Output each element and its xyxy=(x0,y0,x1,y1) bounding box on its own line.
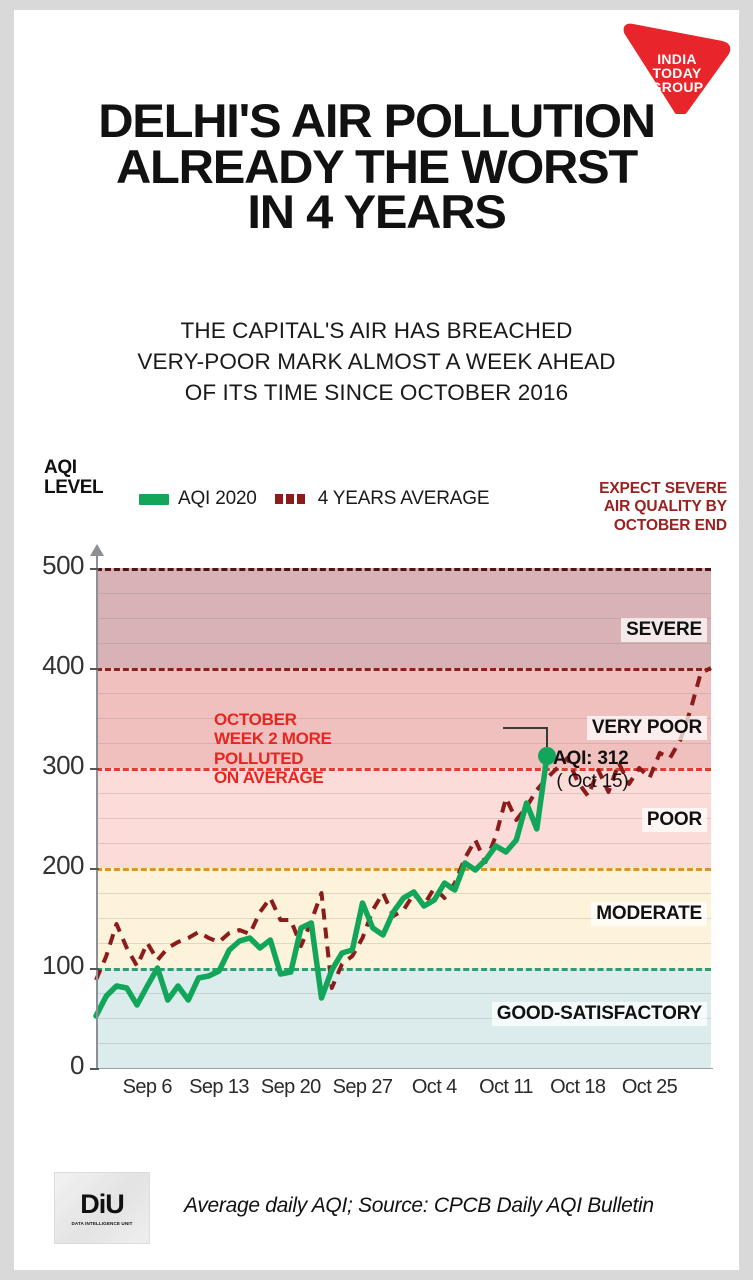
infographic-poster: INDIA TODAY GROUP DELHI'S AIR POLLUTION … xyxy=(14,10,739,1270)
callout-date: ( Oct 15) xyxy=(553,771,629,793)
oct-note-line-2: WEEK 2 MORE xyxy=(214,729,332,748)
source-note: Average daily AQI; Source: CPCB Daily AQ… xyxy=(184,1194,654,1218)
y-tick-500 xyxy=(90,568,99,570)
x-tick-label-sep-20: Sep 20 xyxy=(261,1076,321,1099)
subtitle-line-1: THE CAPITAL'S AIR HAS BREACHED xyxy=(14,315,739,346)
y-tick-label-0: 0 xyxy=(22,1050,84,1081)
chart-legend: AQI 2020 4 YEARS AVERAGE xyxy=(139,488,489,510)
series-line-aqi-2020 xyxy=(96,756,547,1016)
october-week2-note: OCTOBER WEEK 2 MORE POLLUTED ON AVERAGE xyxy=(214,710,332,788)
page-title: DELHI'S AIR POLLUTION ALREADY THE WORST … xyxy=(14,98,739,235)
oct-note-line-3: POLLUTED xyxy=(214,749,332,768)
y-tick-100 xyxy=(90,968,99,970)
x-tick-label-oct-18: Oct 18 xyxy=(550,1076,605,1099)
band-label-severe: SEVERE xyxy=(621,618,707,642)
headline-line-2: ALREADY THE WORST xyxy=(14,144,739,190)
y-axis-title: AQI LEVEL xyxy=(44,458,103,498)
legend-item-aqi-2020: AQI 2020 xyxy=(139,488,257,510)
series-layer xyxy=(96,568,711,1068)
x-tick-label-sep-13: Sep 13 xyxy=(189,1076,249,1099)
diu-logo-subtitle: DATA INTELLIGENCE UNIT xyxy=(71,1221,132,1226)
y-tick-label-400: 400 xyxy=(22,650,84,681)
legend-swatch-dashed-icon xyxy=(275,494,309,504)
y-tick-label-100: 100 xyxy=(22,950,84,981)
y-axis-title-line-1: AQI xyxy=(44,458,103,478)
legend-swatch-solid-icon xyxy=(139,494,169,505)
logo-line-2: TODAY xyxy=(653,66,702,80)
y-tick-0 xyxy=(90,1068,99,1070)
legend-item-4-years-average: 4 YEARS AVERAGE xyxy=(275,488,490,510)
band-label-good-satisfactory: GOOD-SATISFACTORY xyxy=(492,1002,707,1026)
diu-logo: DiU DATA INTELLIGENCE UNIT xyxy=(54,1172,150,1244)
oct-note-line-1: OCTOBER xyxy=(214,710,332,729)
headline-line-1: DELHI'S AIR POLLUTION xyxy=(14,98,739,144)
callout-leader-line xyxy=(503,728,547,747)
x-tick-label-sep-27: Sep 27 xyxy=(333,1076,393,1099)
subtitle: THE CAPITAL'S AIR HAS BREACHED VERY-POOR… xyxy=(14,315,739,408)
y-axis-arrow-icon xyxy=(90,544,104,556)
y-tick-300 xyxy=(90,768,99,770)
band-label-very-poor: VERY POOR xyxy=(587,716,707,740)
x-tick-label-oct-25: Oct 25 xyxy=(622,1076,677,1099)
legend-label-4-years-average: 4 YEARS AVERAGE xyxy=(318,488,490,510)
band-label-poor: POOR xyxy=(642,808,707,832)
expect-note-line-3: OCTOBER END xyxy=(547,517,727,535)
oct-note-line-4: ON AVERAGE xyxy=(214,768,332,787)
aqi-callout: AQI: 312 ( Oct 15) xyxy=(553,748,629,793)
x-tick-label-oct-11: Oct 11 xyxy=(479,1076,533,1099)
aqi-line-chart: GOOD-SATISFACTORYMODERATEPOORVERY POORSE… xyxy=(14,540,739,1130)
y-tick-400 xyxy=(90,668,99,670)
y-axis-title-line-2: LEVEL xyxy=(44,478,103,498)
plot-area: GOOD-SATISFACTORYMODERATEPOORVERY POORSE… xyxy=(96,568,711,1068)
expect-note-line-2: AIR QUALITY BY xyxy=(547,498,727,516)
y-tick-200 xyxy=(90,868,99,870)
y-tick-label-200: 200 xyxy=(22,850,84,881)
footer: DiU DATA INTELLIGENCE UNIT Average daily… xyxy=(14,1164,739,1256)
x-tick-label-oct-4: Oct 4 xyxy=(412,1076,457,1099)
x-axis-line xyxy=(96,1068,713,1069)
headline-line-3: IN 4 YEARS xyxy=(14,189,739,235)
logo-line-3: GROUP xyxy=(651,80,704,94)
expect-severe-note: EXPECT SEVERE AIR QUALITY BY OCTOBER END xyxy=(547,480,727,535)
y-tick-label-300: 300 xyxy=(22,750,84,781)
subtitle-line-3: OF ITS TIME SINCE OCTOBER 2016 xyxy=(14,377,739,408)
logo-line-1: INDIA xyxy=(657,52,697,66)
y-tick-label-500: 500 xyxy=(22,550,84,581)
y-axis-line xyxy=(96,554,98,1068)
x-tick-label-sep-6: Sep 6 xyxy=(123,1076,172,1099)
legend-label-aqi-2020: AQI 2020 xyxy=(178,488,257,510)
expect-note-line-1: EXPECT SEVERE xyxy=(547,480,727,498)
diu-logo-wordmark: DiU xyxy=(80,1191,124,1218)
subtitle-line-2: VERY-POOR MARK ALMOST A WEEK AHEAD xyxy=(14,346,739,377)
callout-value: AQI: 312 xyxy=(553,748,629,770)
band-label-moderate: MODERATE xyxy=(591,902,707,926)
